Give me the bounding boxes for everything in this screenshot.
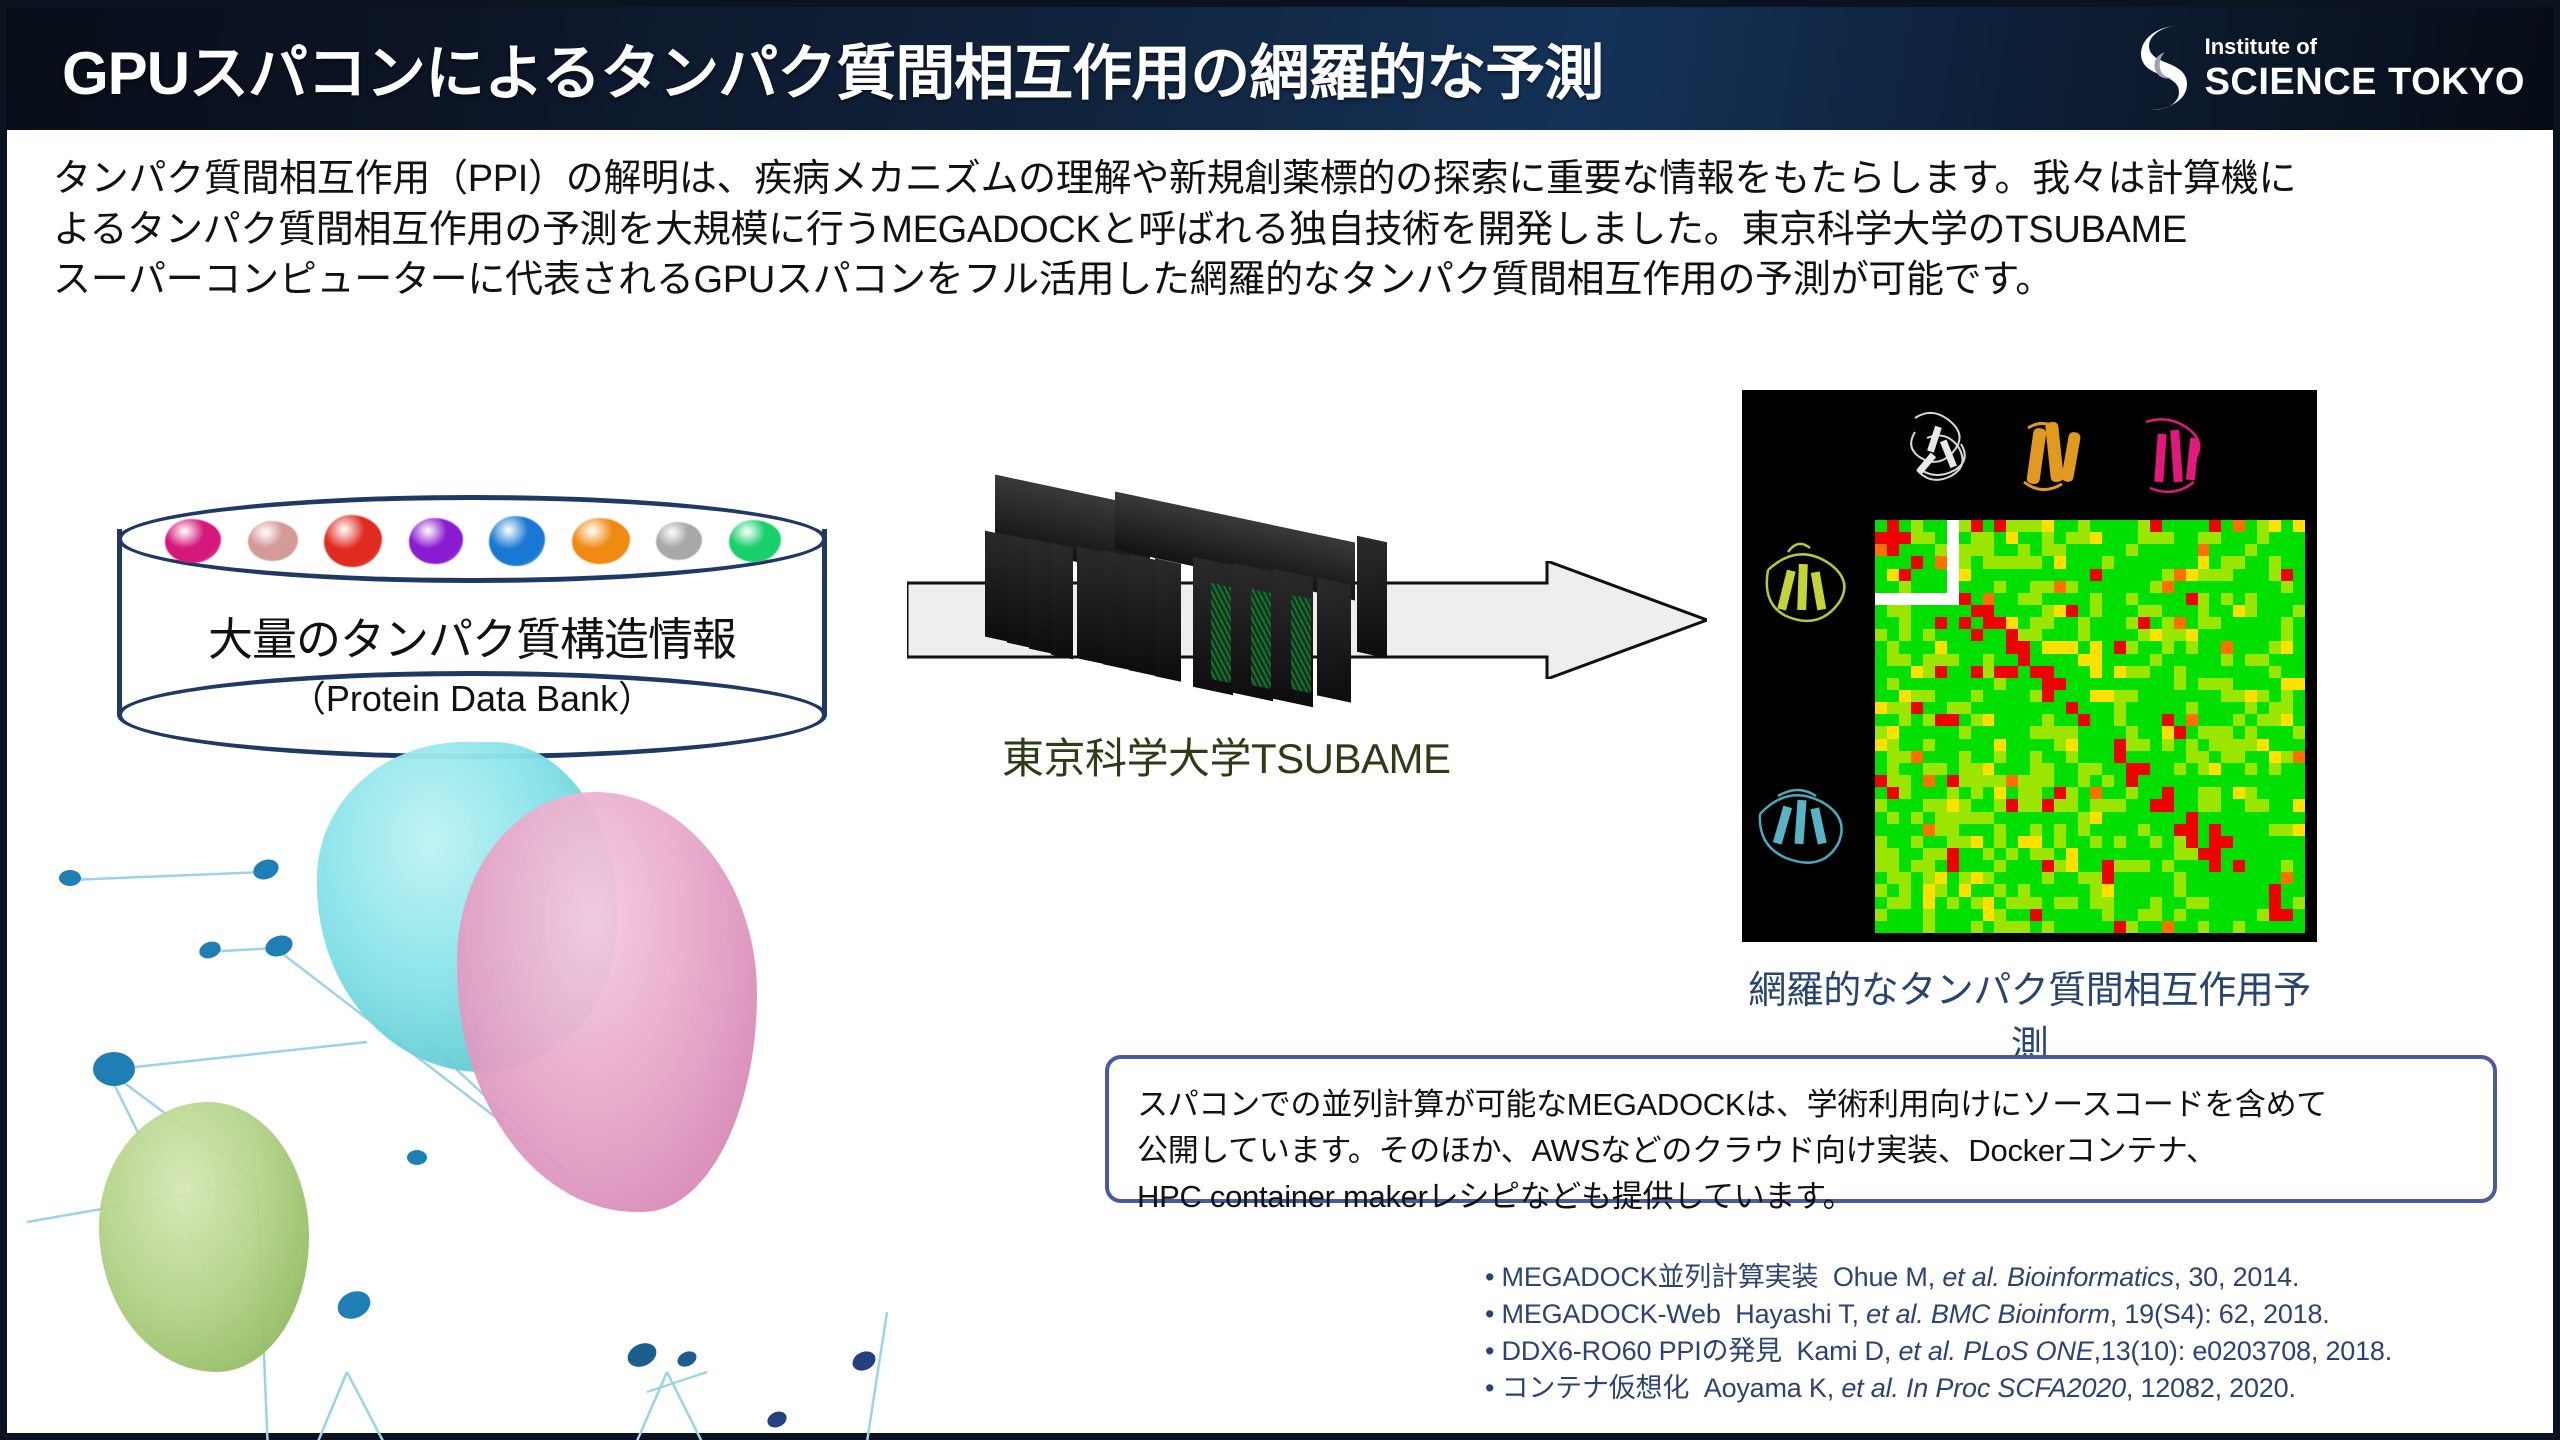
heatmap-cell [1899, 921, 1911, 933]
heatmap-cell [2198, 799, 2210, 811]
heatmap-cell [1923, 739, 1935, 751]
heatmap-cell [2198, 605, 2210, 617]
heatmap-cell [2042, 751, 2054, 763]
heatmap-cell [1983, 678, 1995, 690]
heatmap-cell [1899, 629, 1911, 641]
heatmap-cell [1875, 775, 1887, 787]
heatmap-cell [1994, 690, 2006, 702]
heatmap-cell [1899, 702, 1911, 714]
heatmap-cell [1935, 860, 1947, 872]
heatmap-cell [2233, 605, 2245, 617]
heatmap-cell [1959, 787, 1971, 799]
heatmap-cell [1887, 739, 1899, 751]
heatmap-cell [2162, 775, 2174, 787]
heatmap-cell [1923, 544, 1935, 556]
heatmap-cell [2078, 702, 2090, 714]
infobox-line-1: スパコンでの並列計算が可能なMEGADOCKは、学術利用向けにソースコードを含め… [1137, 1079, 2327, 1124]
heatmap-cell [2102, 556, 2114, 568]
heatmap-cell [2281, 641, 2293, 653]
heatmap-cell [2006, 544, 2018, 556]
heatmap-cell [2078, 775, 2090, 787]
heatmap-cell [2198, 787, 2210, 799]
heatmap-cell [1899, 654, 1911, 666]
heatmap-cell [1899, 799, 1911, 811]
heatmap-cell [2245, 581, 2257, 593]
heatmap-cell [1923, 532, 1935, 544]
heatmap-cell [2018, 654, 2030, 666]
heatmap-cell [2030, 654, 2042, 666]
heatmap-cell [1875, 581, 1887, 593]
heatmap-cell [2245, 775, 2257, 787]
heatmap-cell [2090, 726, 2102, 738]
heatmap-cell [1935, 678, 1947, 690]
heatmap-cell [1887, 714, 1899, 726]
heatmap-cell [2138, 702, 2150, 714]
heatmap-cell [2221, 629, 2233, 641]
heatmap-cell [2198, 921, 2210, 933]
heatmap-cell [1923, 860, 1935, 872]
heatmap-cell [2006, 860, 2018, 872]
heatmap-cell [2209, 787, 2221, 799]
heatmap-cell [2198, 860, 2210, 872]
heatmap-cell [2150, 836, 2162, 848]
heatmap-cell [2269, 884, 2281, 896]
heatmap-cell [1994, 678, 2006, 690]
heatmap-cell [1994, 593, 2006, 605]
heatmap-cell [2042, 921, 2054, 933]
heatmap-cell [1935, 617, 1947, 629]
heatmap-cell [1959, 678, 1971, 690]
heatmap-cell [1959, 799, 1971, 811]
heatmap-cell [2102, 666, 2114, 678]
heatmap-cell [1911, 605, 1923, 617]
heatmap-cell [2126, 775, 2138, 787]
heatmap-cell [2245, 520, 2257, 532]
heatmap-cell [2221, 617, 2233, 629]
heatmap-cell [1911, 763, 1923, 775]
heatmap-cell [1935, 884, 1947, 896]
heatmap-cell [1923, 799, 1935, 811]
heatmap-cell [2269, 909, 2281, 921]
heatmap-cell [2162, 872, 2174, 884]
heatmap-cell [2257, 532, 2269, 544]
heatmap-cell [1875, 702, 1887, 714]
heatmap-cell [2221, 666, 2233, 678]
heatmap-cell [2221, 532, 2233, 544]
heatmap-cell [1923, 569, 1935, 581]
heatmap-cell [1983, 520, 1995, 532]
heatmap-cell [2066, 593, 2078, 605]
heatmap-cell [2066, 714, 2078, 726]
heatmap-cell [2198, 848, 2210, 860]
protein-blob-green [729, 520, 781, 562]
heatmap-cell [2257, 860, 2269, 872]
heatmap-cell [2162, 921, 2174, 933]
heatmap-cell [2102, 739, 2114, 751]
heatmap-cell [2221, 690, 2233, 702]
heatmap-cell [2078, 678, 2090, 690]
heatmap-cell [1935, 763, 1947, 775]
rack-column-7 [1155, 558, 1181, 682]
heatmap-cell [1971, 848, 1983, 860]
heatmap-cell [2150, 690, 2162, 702]
heatmap-cell [2066, 556, 2078, 568]
heatmap-cell [2078, 921, 2090, 933]
heatmap-cell [2018, 641, 2030, 653]
heatmap-cell [1911, 739, 1923, 751]
heatmap-cell [2269, 824, 2281, 836]
heatmap-cell [1923, 605, 1935, 617]
heatmap-cell [2114, 909, 2126, 921]
heatmap-cell [2078, 872, 2090, 884]
heatmap-cell [1959, 909, 1971, 921]
heatmap-cell [1935, 897, 1947, 909]
heatmap-cell [2138, 799, 2150, 811]
heatmap-cell [2174, 799, 2186, 811]
heatmap-cell [2054, 787, 2066, 799]
heatmap-cell [1923, 593, 1935, 605]
heatmap-cell [1983, 666, 1995, 678]
heatmap-cell [2030, 532, 2042, 544]
heatmap-cell [2209, 860, 2221, 872]
heatmap-cell [2186, 581, 2198, 593]
heatmap-cell [2150, 617, 2162, 629]
heatmap-cell [2054, 921, 2066, 933]
heatmap-cell [2138, 654, 2150, 666]
heatmap-cell [2114, 629, 2126, 641]
heatmap-cell [1887, 763, 1899, 775]
heatmap-cell [1935, 812, 1947, 824]
heatmap-cell [2138, 872, 2150, 884]
heatmap-cell [2150, 921, 2162, 933]
heatmap-cell [2209, 739, 2221, 751]
heatmap-cell [2090, 909, 2102, 921]
heatmap-cell [2030, 593, 2042, 605]
heatmap-cell [2209, 678, 2221, 690]
heatmap-cell [2126, 848, 2138, 860]
header-bar: GPUスパコンによるタンパク質間相互作用の網羅的な予測 Institute of… [7, 7, 2553, 130]
heatmap-cell [2198, 909, 2210, 921]
heatmap-cell [2269, 532, 2281, 544]
heatmap-cell [2078, 812, 2090, 824]
heatmap-cell [1935, 775, 1947, 787]
heatmap-cell [2198, 569, 2210, 581]
heatmap-cell [2162, 690, 2174, 702]
heatmap-cell [2245, 739, 2257, 751]
heatmap-cell [1983, 751, 1995, 763]
heatmap-cell [2030, 836, 2042, 848]
heatmap-cell [2030, 787, 2042, 799]
heatmap-cell [2269, 775, 2281, 787]
heatmap-cell [1959, 641, 1971, 653]
heatmap-cell [1875, 909, 1887, 921]
heatmap-cell [2066, 690, 2078, 702]
heatmap-cell [2245, 629, 2257, 641]
heatmap-cell [2066, 799, 2078, 811]
heatmap-cell [2174, 909, 2186, 921]
heatmap-cell [2126, 872, 2138, 884]
heatmap-cell [2114, 593, 2126, 605]
heatmap-cell [2233, 641, 2245, 653]
heatmap-cell [2102, 799, 2114, 811]
heatmap-cell [2078, 520, 2090, 532]
heatmap-cell [2090, 666, 2102, 678]
heatmap-cell [2126, 897, 2138, 909]
heatmap-cell [2245, 763, 2257, 775]
heatmap-cell [2138, 775, 2150, 787]
heatmap-cell [2054, 702, 2066, 714]
heatmap-cell [1971, 569, 1983, 581]
heatmap-cell [2018, 848, 2030, 860]
heatmap-cell [2257, 678, 2269, 690]
heatmap-cell [1994, 605, 2006, 617]
heatmap-cell [2198, 763, 2210, 775]
heatmap-cell [1875, 532, 1887, 544]
heatmap-cell [2221, 739, 2233, 751]
tsubame-supercomputer-image [965, 481, 1515, 701]
heatmap-cell [2281, 860, 2293, 872]
heatmap-cell [1923, 872, 1935, 884]
heatmap-cell [2186, 569, 2198, 581]
heatmap-cell [2150, 678, 2162, 690]
heatmap-cell [1899, 860, 1911, 872]
heatmap-cell [2269, 836, 2281, 848]
heatmap-cell [2209, 799, 2221, 811]
heatmap-cell [2042, 836, 2054, 848]
heatmap-cell [1983, 921, 1995, 933]
heatmap-cell [2054, 836, 2066, 848]
heatmap-cell [2138, 763, 2150, 775]
heatmap-cell [2245, 617, 2257, 629]
heatmap-cell [1994, 872, 2006, 884]
heatmap-cell [1923, 897, 1935, 909]
heatmap-cell [2150, 799, 2162, 811]
heatmap-cell [1935, 702, 1947, 714]
heatmap-cell [2174, 751, 2186, 763]
heatmap-cell [2186, 641, 2198, 653]
heatmap-cell [2030, 690, 2042, 702]
citation-item: • DDX6-RO60 PPIの発見 Kami D, et al. PLoS O… [1485, 1333, 2525, 1370]
heatmap-cell [2257, 763, 2269, 775]
heatmap-cell [1983, 726, 1995, 738]
heatmap-cell [1875, 860, 1887, 872]
heatmap-cell [2078, 909, 2090, 921]
heatmap-cell [2114, 812, 2126, 824]
heatmap-cell [2269, 897, 2281, 909]
heatmap-cell [2174, 787, 2186, 799]
heatmap-cell [2209, 812, 2221, 824]
heatmap-cell [1935, 532, 1947, 544]
heatmap-cell [2126, 581, 2138, 593]
heatmap-cell [1911, 544, 1923, 556]
heatmap-cell [1983, 775, 1995, 787]
heatmap-cell [2138, 617, 2150, 629]
heatmap-cell [1887, 617, 1899, 629]
heatmap-cell [1947, 520, 1959, 532]
heatmap-cell [1875, 605, 1887, 617]
heatmap-cell [2078, 593, 2090, 605]
heatmap-cell [1875, 678, 1887, 690]
heatmap-cell [1923, 629, 1935, 641]
heatmap-cell [2174, 605, 2186, 617]
heatmap-cell [2257, 872, 2269, 884]
heatmap-cell [1959, 690, 1971, 702]
heatmap-cell [1911, 812, 1923, 824]
heatmap-cell [2221, 884, 2233, 896]
heatmap-cell [2054, 654, 2066, 666]
heatmap-cell [2030, 872, 2042, 884]
heatmap-cell [2042, 812, 2054, 824]
heatmap-cell [1935, 654, 1947, 666]
heatmap-cell [2186, 799, 2198, 811]
heatmap-cell [2150, 884, 2162, 896]
heatmap-cell [2114, 617, 2126, 629]
heatmap-cell [2162, 617, 2174, 629]
heatmap-cell [2102, 836, 2114, 848]
heatmap-cell [2162, 897, 2174, 909]
heatmap-cell [2245, 654, 2257, 666]
heatmap-cell [2186, 726, 2198, 738]
heatmap-cell [2126, 617, 2138, 629]
heatmap-cell [1971, 690, 1983, 702]
heatmap-cell [1911, 824, 1923, 836]
heatmap-cell [2233, 629, 2245, 641]
heatmap-cell [1971, 532, 1983, 544]
heatmap-cell [2114, 702, 2126, 714]
heatmap-cell [2186, 520, 2198, 532]
heatmap-cell [2054, 751, 2066, 763]
heatmap-cell [2281, 593, 2293, 605]
heatmap-cell [2138, 581, 2150, 593]
heatmap-cell [2269, 787, 2281, 799]
heatmap-cell [2150, 605, 2162, 617]
heatmap-cell [2042, 629, 2054, 641]
heatmap-cell [2078, 897, 2090, 909]
heatmap-cell [2102, 763, 2114, 775]
heatmap-cell [2174, 739, 2186, 751]
heatmap-cell [2221, 751, 2233, 763]
heatmap-cell [2090, 532, 2102, 544]
heatmap-cell [2233, 751, 2245, 763]
heatmap-cell [2030, 799, 2042, 811]
heatmap-cell [1911, 836, 1923, 848]
heatmap-cell [2102, 593, 2114, 605]
heatmap-cell [2162, 569, 2174, 581]
network-node [59, 870, 81, 886]
logo-wordmark: Institute of SCIENCE TOKYO [2205, 36, 2525, 101]
heatmap-cell [2209, 532, 2221, 544]
heatmap-cell [2030, 739, 2042, 751]
heatmap-cell [2281, 787, 2293, 799]
heatmap-cell [2293, 897, 2305, 909]
heatmap-cell [2054, 726, 2066, 738]
heatmap-cell [2090, 544, 2102, 556]
heatmap-cell [1971, 884, 1983, 896]
heatmap-cell [2018, 872, 2030, 884]
heatmap-cell [2221, 848, 2233, 860]
heatmap-cell [2162, 654, 2174, 666]
heatmap-cell [2198, 581, 2210, 593]
heatmap-cell [2066, 520, 2078, 532]
heatmap-cell [2030, 641, 2042, 653]
institute-logo: Institute of SCIENCE TOKYO [2135, 18, 2525, 118]
heatmap-cell [1947, 799, 1959, 811]
heatmap-cell [2114, 921, 2126, 933]
heatmap-cell [2018, 605, 2030, 617]
heatmap-cell [1994, 848, 2006, 860]
heatmap-cell [2174, 836, 2186, 848]
heatmap-cell [2126, 520, 2138, 532]
heatmap-cell [2245, 884, 2257, 896]
heatmap-cell [1875, 641, 1887, 653]
heatmap-cell [1911, 921, 1923, 933]
heatmap-cell [2162, 787, 2174, 799]
heatmap-cell [2030, 909, 2042, 921]
heatmap-cell [1899, 775, 1911, 787]
heatmap-cell [2293, 617, 2305, 629]
heatmap-cell [2186, 605, 2198, 617]
heatmap-cell [2102, 787, 2114, 799]
heatmap-cell [1983, 629, 1995, 641]
protein-blob-gray [656, 522, 702, 560]
heatmap-cell [2066, 726, 2078, 738]
heatmap-cell [2114, 775, 2126, 787]
heatmap-cell [2102, 884, 2114, 896]
heatmap-cell [2090, 654, 2102, 666]
heatmap-cell [1947, 714, 1959, 726]
heatmap-cell [1899, 897, 1911, 909]
heatmap-cell [2114, 678, 2126, 690]
heatmap-cell [2269, 726, 2281, 738]
heatmap-cell [1959, 824, 1971, 836]
heatmap-cell [2221, 556, 2233, 568]
heatmap-cell [2066, 739, 2078, 751]
heatmap-cell [2138, 605, 2150, 617]
heatmap-cell [1983, 581, 1995, 593]
heatmap-cell [2233, 872, 2245, 884]
heatmap-cell [2233, 654, 2245, 666]
heatmap-cell [1911, 848, 1923, 860]
protein-blob-blue [489, 516, 545, 566]
heatmap-cell [2269, 544, 2281, 556]
heatmap-cell [2174, 775, 2186, 787]
heatmap-cell [2018, 799, 2030, 811]
heatmap-cell [2221, 544, 2233, 556]
heatmap-cell [2114, 751, 2126, 763]
heatmap-cell [2090, 629, 2102, 641]
heatmap-cell [2233, 714, 2245, 726]
heatmap-cell [2066, 641, 2078, 653]
heatmap-cell [2054, 848, 2066, 860]
heatmap-cell [2054, 872, 2066, 884]
heatmap-cell [2078, 544, 2090, 556]
cylinder-caption-main: 大量のタンパク質構造情報 [117, 603, 827, 668]
heatmap-cell [2150, 848, 2162, 860]
heatmap-cell [1911, 860, 1923, 872]
heatmap-cell [2126, 921, 2138, 933]
heatmap-cell [2221, 581, 2233, 593]
heatmap-cell [2066, 629, 2078, 641]
heatmap-cell [2293, 654, 2305, 666]
heatmap-cell [2090, 921, 2102, 933]
heatmap-cell [2150, 824, 2162, 836]
lead-line-3: スーパーコンピューターに代表されるGPUスパコンをフル活用した網羅的なタンパク質… [53, 255, 2513, 306]
heatmap-cell [2006, 884, 2018, 896]
heatmap-cell [2114, 581, 2126, 593]
heatmap-cell [2281, 714, 2293, 726]
heatmap-cell [2114, 726, 2126, 738]
heatmap-cell [2030, 824, 2042, 836]
